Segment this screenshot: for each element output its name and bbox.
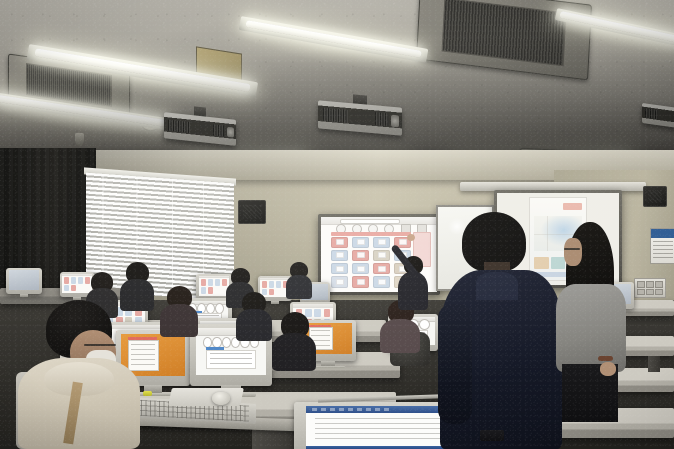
student-center-aisle: [272, 312, 316, 368]
instructor-body: [398, 272, 428, 310]
classroom-photo: [0, 0, 674, 449]
mousepad-foreground: [168, 388, 244, 406]
slide-tile-9: [331, 263, 348, 274]
slide-tile-3: [373, 237, 390, 248]
observer-suit-sleeve: [438, 304, 472, 424]
slide-tile-11: [373, 263, 390, 274]
student-back-right: [286, 262, 312, 296]
observer-dark-suit: [440, 212, 562, 449]
student-mid-dark: [236, 292, 272, 338]
slide-tile-1: [331, 237, 348, 248]
desk-leg-right: [648, 356, 660, 372]
student-row2-left: [160, 286, 198, 334]
wall-notice-poster: [650, 228, 674, 264]
slide-tile-14: [352, 276, 369, 287]
slide-tile-2: [352, 237, 369, 248]
monitor-back-left[interactable]: [6, 268, 42, 294]
yellow-desk-object: [143, 391, 152, 396]
doc-header-box: [563, 203, 582, 210]
observer-grey-hand: [600, 362, 616, 376]
slide-tile-6: [352, 250, 369, 261]
monitor-tile: [64, 285, 69, 292]
smartphone-on-desk[interactable]: [480, 430, 504, 441]
slide-address-bar: [340, 219, 400, 224]
observer-grey-sweater: [556, 284, 626, 372]
monitor-tile: [78, 277, 83, 284]
monitor-tile: [201, 279, 206, 286]
student-foreground-hoodie: [18, 300, 140, 449]
instructor-pointing: [396, 246, 430, 308]
observer-suit-collar: [476, 272, 518, 300]
monitor-tile: [269, 281, 274, 288]
slide-tile-5: [331, 250, 348, 261]
mouse-foreground[interactable]: [212, 392, 230, 405]
monitor-tile: [215, 279, 220, 286]
monitor-tile: [64, 277, 69, 284]
instructor-hand: [407, 234, 415, 241]
monitor-tile: [324, 309, 330, 318]
monitor-tile: [71, 277, 76, 284]
observer-grey-top: [556, 222, 626, 422]
slide-tile-7: [373, 250, 390, 261]
slide-tile-10: [352, 263, 369, 274]
slide-tile-15: [373, 276, 390, 287]
observer-grey-face: [564, 238, 582, 266]
monitor-tile: [208, 279, 213, 286]
monitor-tile: [276, 281, 281, 288]
monitor-tile: [208, 287, 213, 294]
student-body: [286, 275, 312, 299]
slide-tile-13: [331, 276, 348, 287]
wall-speaker-left: [238, 200, 266, 224]
observer-grey-wristband: [598, 356, 613, 361]
monitor-tile: [71, 285, 76, 292]
monitor-tile: [262, 281, 267, 288]
slide-header-band: [331, 232, 411, 236]
observer-grey-glasses: [564, 248, 580, 250]
student-glasses: [84, 344, 116, 346]
monitor-tile: [201, 287, 206, 294]
light-switch-plate[interactable]: [634, 278, 666, 298]
wall-speaker-right: [643, 186, 667, 207]
